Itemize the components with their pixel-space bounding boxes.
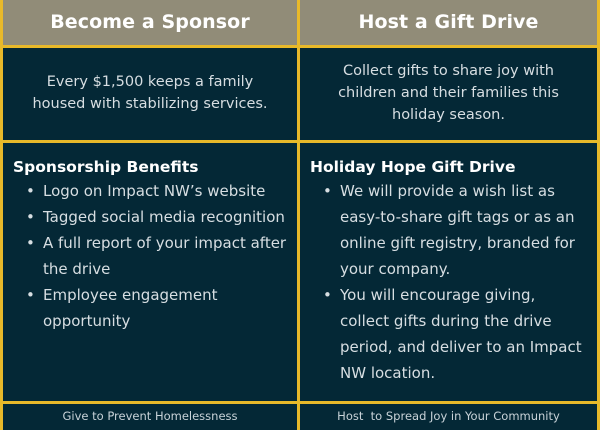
details-cell-gift-drive: Holiday Hope Gift Drive • We will provid… — [300, 143, 597, 401]
details-heading-sponsor: Sponsorship Benefits — [13, 157, 287, 177]
details-cell-sponsor: Sponsorship Benefits • Logo on Impact NW… — [3, 143, 300, 401]
column-header-sponsor: Become a Sponsor — [3, 0, 300, 45]
tagline-cell-sponsor: Every $1,500 keeps a family housed with … — [3, 48, 300, 140]
list-item: • Tagged social media recognition — [13, 205, 287, 231]
list-item-label: Tagged social media recognition — [43, 208, 285, 226]
bullet-icon: • — [26, 205, 35, 231]
list-item: • A full report of your impact after the… — [13, 231, 287, 283]
list-item: • We will provide a wish list as easy-to… — [310, 179, 587, 283]
list-item-label: Logo on Impact NW’s website — [43, 182, 265, 200]
tagline-gift-drive: Collect gifts to share joy with children… — [318, 61, 579, 126]
list-item-label: You will encourage giving, collect gifts… — [340, 286, 582, 382]
benefits-list-sponsor: • Logo on Impact NW’s website • Tagged s… — [13, 179, 287, 335]
details-row: Sponsorship Benefits • Logo on Impact NW… — [3, 143, 597, 404]
column-title-gift-drive: Host a Gift Drive — [358, 12, 538, 33]
list-item-label: A full report of your impact after the d… — [43, 234, 286, 278]
bullet-icon: • — [323, 179, 332, 205]
details-heading-gift-drive: Holiday Hope Gift Drive — [310, 157, 587, 177]
list-item: • Logo on Impact NW’s website — [13, 179, 287, 205]
bullet-icon: • — [26, 231, 35, 257]
sponsorship-comparison-table: Become a Sponsor Host a Gift Drive Every… — [0, 0, 600, 430]
benefits-list-gift-drive: • We will provide a wish list as easy-to… — [310, 179, 587, 387]
footer-caption-gift-drive: Host to Spread Joy in Your Community — [337, 410, 560, 424]
bullet-icon: • — [323, 283, 332, 309]
footer-row: Give to Prevent Homelessness Host to Spr… — [3, 404, 597, 430]
bullet-icon: • — [26, 179, 35, 205]
column-header-gift-drive: Host a Gift Drive — [300, 0, 597, 45]
list-item-label: We will provide a wish list as easy-to-s… — [340, 182, 575, 278]
column-title-sponsor: Become a Sponsor — [50, 12, 250, 33]
list-item-label: Employee engagement opportunity — [43, 286, 218, 330]
footer-cell-sponsor: Give to Prevent Homelessness — [3, 404, 300, 430]
footer-cell-gift-drive: Host to Spread Joy in Your Community — [300, 404, 597, 430]
tagline-sponsor: Every $1,500 keeps a family housed with … — [21, 72, 279, 116]
table-header-row: Become a Sponsor Host a Gift Drive — [3, 0, 597, 48]
list-item: • Employee engagement opportunity — [13, 283, 287, 335]
tagline-cell-gift-drive: Collect gifts to share joy with children… — [300, 48, 597, 140]
tagline-row: Every $1,500 keeps a family housed with … — [3, 48, 597, 143]
list-item: • You will encourage giving, collect gif… — [310, 283, 587, 387]
footer-caption-sponsor: Give to Prevent Homelessness — [62, 410, 237, 424]
bullet-icon: • — [26, 283, 35, 309]
